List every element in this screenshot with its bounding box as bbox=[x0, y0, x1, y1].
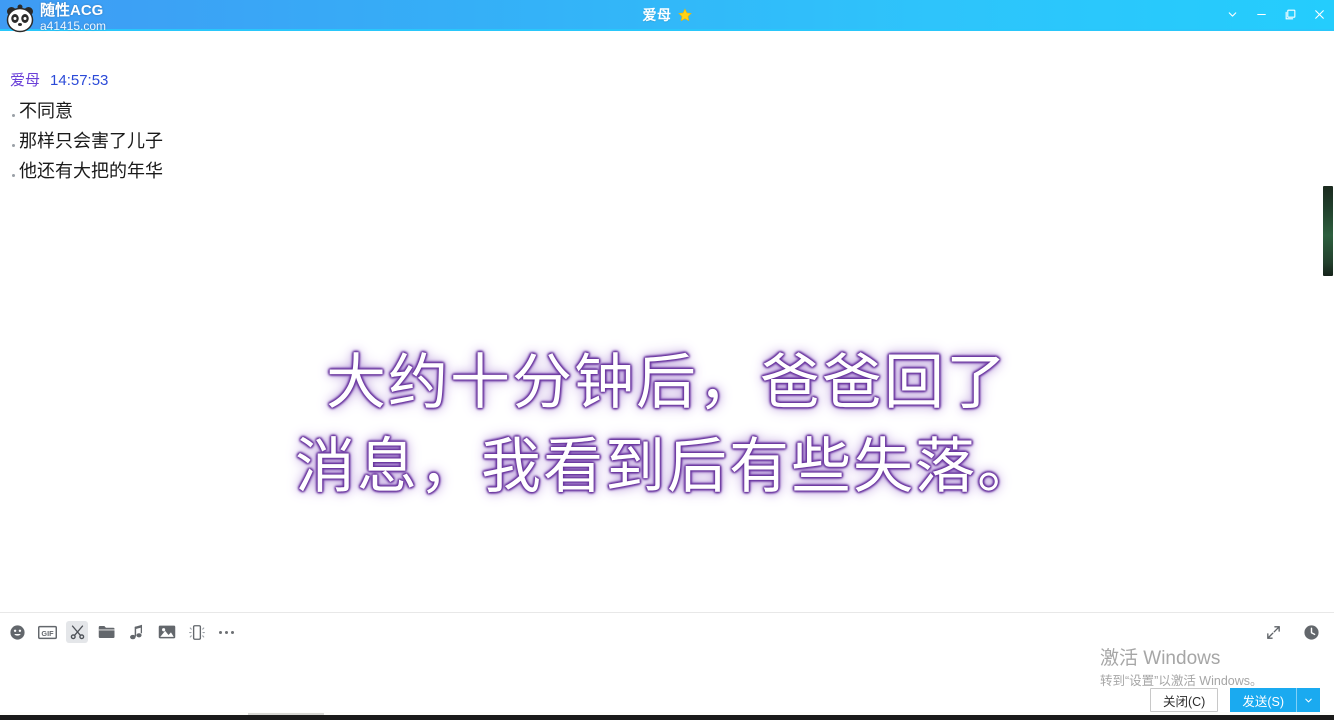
toolbar-left-group: GIF bbox=[0, 621, 237, 643]
message-line: 不同意 bbox=[10, 96, 163, 126]
input-toolbar: GIF bbox=[0, 613, 1334, 651]
message-item: 爱母 14:57:53 不同意 那样只会害了儿子 他还有大把的年华 bbox=[10, 69, 163, 186]
message-list: 爱母 14:57:53 不同意 那样只会害了儿子 他还有大把的年华 bbox=[0, 31, 1334, 612]
qq-chat-window: 爱母 bbox=[0, 0, 1334, 720]
message-line: 他还有大把的年华 bbox=[10, 156, 163, 186]
bullet-dot-icon bbox=[12, 144, 15, 147]
expand-editor-icon[interactable] bbox=[1262, 621, 1284, 643]
gif-icon[interactable]: GIF bbox=[36, 621, 58, 643]
music-note-icon[interactable] bbox=[126, 621, 148, 643]
window-controls bbox=[1218, 0, 1334, 29]
message-text: 不同意 bbox=[19, 96, 73, 126]
close-button[interactable] bbox=[1305, 0, 1334, 29]
message-scrollbar-thumb[interactable] bbox=[1323, 186, 1333, 276]
emoji-icon[interactable] bbox=[6, 621, 28, 643]
message-timestamp: 14:57:53 bbox=[50, 72, 108, 89]
bullet-dot-icon bbox=[12, 174, 15, 177]
message-scrollbar[interactable] bbox=[1322, 31, 1334, 612]
subtitle-line-2: 消息，我看到后有些失落。 bbox=[0, 425, 1334, 509]
subtitle-line-1: 大约十分钟后，爸爸回了 bbox=[0, 341, 1334, 425]
window-title-group: 爱母 bbox=[0, 0, 1334, 29]
page-title: 爱母 bbox=[643, 5, 672, 25]
title-bar: 爱母 bbox=[0, 0, 1334, 29]
more-tools-icon[interactable] bbox=[216, 626, 237, 639]
close-button-bottom[interactable]: 关闭(C) bbox=[1150, 688, 1218, 712]
subtitle-overlay: 大约十分钟后，爸爸回了 消息，我看到后有些失落。 bbox=[0, 341, 1334, 509]
shake-window-icon[interactable] bbox=[186, 621, 208, 643]
file-folder-icon[interactable] bbox=[96, 621, 118, 643]
send-options-chevron-down-icon[interactable] bbox=[1296, 688, 1320, 712]
action-button-row: 关闭(C) 发送(S) bbox=[1150, 688, 1320, 712]
star-icon bbox=[678, 8, 692, 22]
message-sender[interactable]: 爱母 bbox=[10, 69, 40, 90]
svg-text:GIF: GIF bbox=[41, 628, 54, 637]
restore-button[interactable] bbox=[1276, 0, 1305, 29]
message-input[interactable] bbox=[10, 651, 1110, 691]
bullet-dot-icon bbox=[12, 114, 15, 117]
image-icon[interactable] bbox=[156, 621, 178, 643]
send-button-group: 发送(S) bbox=[1230, 688, 1320, 712]
minimize-button[interactable] bbox=[1247, 0, 1276, 29]
window-bottom-edge bbox=[0, 715, 1334, 720]
message-input-area[interactable] bbox=[0, 651, 1334, 715]
toolbar-right-group bbox=[1262, 621, 1334, 643]
message-body: 不同意 那样只会害了儿子 他还有大把的年华 bbox=[10, 96, 163, 186]
message-text: 他还有大把的年华 bbox=[19, 156, 163, 186]
message-header: 爱母 14:57:53 bbox=[10, 69, 163, 90]
chat-history-clock-icon[interactable] bbox=[1300, 621, 1322, 643]
screenshot-scissors-icon[interactable] bbox=[66, 621, 88, 643]
menu-chevron-button[interactable] bbox=[1218, 0, 1247, 29]
send-button[interactable]: 发送(S) bbox=[1230, 688, 1296, 712]
message-line: 那样只会害了儿子 bbox=[10, 126, 163, 156]
message-text: 那样只会害了儿子 bbox=[19, 126, 163, 156]
